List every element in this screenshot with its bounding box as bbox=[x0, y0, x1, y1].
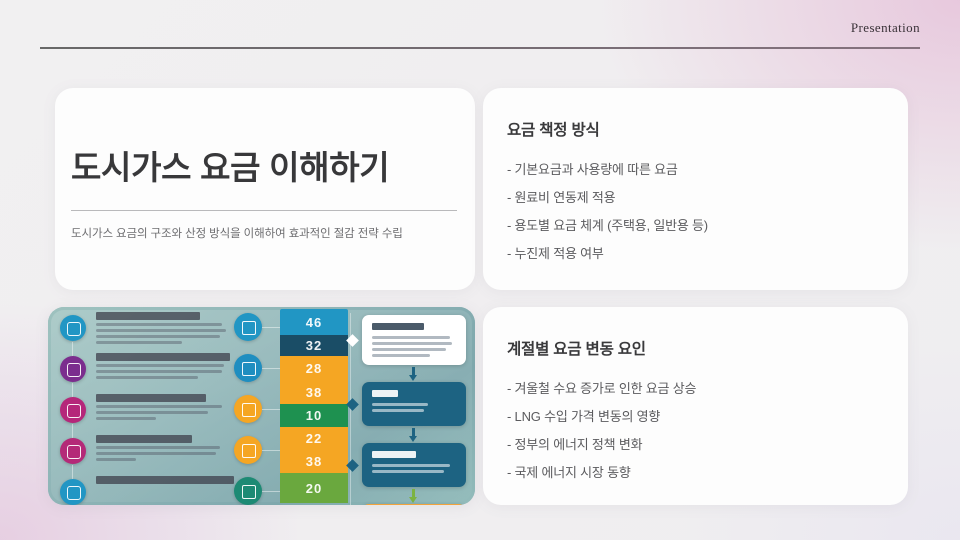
bank-icon bbox=[60, 356, 86, 382]
page-title: 도시가스 요금 이해하기 bbox=[71, 148, 389, 188]
bullet-text-line bbox=[96, 452, 216, 455]
seasonal-list-item: - 정부의 에너지 정책 변화 bbox=[507, 431, 890, 459]
presentation-slide: Presentation 도시가스 요금 이해하기 도시가스 요금의 구조와 산… bbox=[0, 0, 960, 540]
bullet-text-line bbox=[96, 364, 224, 367]
bullet-heading bbox=[96, 312, 200, 320]
bullet-text-line bbox=[96, 341, 182, 344]
title-divider bbox=[71, 210, 457, 211]
target-icon bbox=[60, 315, 86, 341]
pricing-card-title: 요금 책정 방식 bbox=[507, 118, 600, 140]
bar-segment: 38 bbox=[280, 450, 348, 473]
box-title bbox=[372, 451, 416, 458]
seasonal-list-item: - 국제 에너지 시장 동향 bbox=[507, 459, 890, 487]
box-text-line bbox=[372, 354, 430, 357]
chart-icon bbox=[60, 479, 86, 505]
bullet-text-line bbox=[96, 405, 222, 408]
seasonal-list-item: - LNG 수입 가격 변동의 영향 bbox=[507, 403, 890, 431]
pricing-card-list: - 기본요금과 사용량에 따른 요금- 원료비 연동제 적용- 용도별 요금 체… bbox=[507, 156, 890, 268]
bar-segment: 32 bbox=[280, 335, 348, 356]
document-icon bbox=[60, 397, 86, 423]
connector-line bbox=[72, 383, 73, 397]
bullet-text-line bbox=[96, 458, 136, 461]
infographic-image: 4632283810223820 bbox=[48, 307, 475, 505]
pricing-list-item: - 누진제 적용 여부 bbox=[507, 240, 890, 268]
leaf-icon bbox=[234, 477, 262, 505]
bar-segment: 28 bbox=[280, 356, 348, 380]
infographic-card: 4632283810223820 bbox=[48, 307, 475, 505]
bar-segment: 46 bbox=[280, 309, 348, 335]
bar-segment: 22 bbox=[280, 427, 348, 450]
metric-box bbox=[362, 382, 466, 426]
compare-box bbox=[362, 443, 466, 487]
summary-box bbox=[362, 315, 466, 365]
box-text-line bbox=[372, 470, 444, 473]
pricing-list-item: - 용도별 요금 체계 (주택용, 일반용 등) bbox=[507, 212, 890, 240]
bullet-text-line bbox=[96, 335, 220, 338]
seasonal-list-item: - 겨울철 수요 증가로 인한 요금 상승 bbox=[507, 375, 890, 403]
bullet-text-line bbox=[96, 323, 222, 326]
box-text-line bbox=[372, 409, 424, 412]
presentation-icon bbox=[234, 354, 262, 382]
bullet-text-line bbox=[96, 446, 220, 449]
calendar-icon bbox=[234, 395, 262, 423]
seasonal-card-title: 계절별 요금 변동 요인 bbox=[507, 337, 646, 359]
box-text-line bbox=[372, 464, 450, 467]
seasonal-card-list: - 겨울철 수요 증가로 인한 요금 상승- LNG 수입 가격 변동의 영향-… bbox=[507, 375, 890, 487]
connector-line bbox=[72, 342, 73, 356]
box-text-line bbox=[372, 348, 446, 351]
connector-line bbox=[72, 465, 73, 479]
bullet-heading bbox=[96, 394, 206, 402]
bar-segment: 20 bbox=[280, 473, 348, 503]
slide-header: Presentation bbox=[40, 18, 920, 50]
infographic-icon-column bbox=[230, 307, 278, 505]
page-subtitle: 도시가스 요금의 구조와 산정 방식을 이해하여 효과적인 절감 전략 수립 bbox=[71, 226, 403, 243]
box-text-line bbox=[372, 336, 450, 339]
bullet-text-line bbox=[96, 376, 198, 379]
box-text-line bbox=[372, 342, 452, 345]
box-text-line bbox=[372, 403, 428, 406]
user-icon bbox=[60, 438, 86, 464]
seasonal-factors-card: 계절별 요금 변동 요인 - 겨울철 수요 증가로 인한 요금 상승- LNG … bbox=[483, 307, 908, 505]
box-title bbox=[372, 323, 424, 330]
bar-segment: 10 bbox=[280, 404, 348, 427]
bar-segment: 38 bbox=[280, 380, 348, 404]
bullet-text-line bbox=[96, 411, 208, 414]
header-title: Presentation bbox=[851, 18, 920, 38]
gauge-icon bbox=[234, 436, 262, 464]
bullet-text-line bbox=[96, 417, 156, 420]
infographic-flowchart bbox=[360, 311, 472, 505]
bullet-heading bbox=[96, 476, 234, 484]
bullet-heading bbox=[96, 435, 192, 443]
bullet-text-line bbox=[96, 370, 222, 373]
bullet-heading bbox=[96, 353, 230, 361]
pricing-list-item: - 기본요금과 사용량에 따른 요금 bbox=[507, 156, 890, 184]
pricing-list-item: - 원료비 연동제 적용 bbox=[507, 184, 890, 212]
infographic-bullet-column bbox=[56, 307, 238, 505]
title-card: 도시가스 요금 이해하기 도시가스 요금의 구조와 산정 방식을 이해하여 효과… bbox=[55, 88, 475, 290]
header-divider bbox=[40, 47, 920, 49]
bullet-text-line bbox=[96, 329, 226, 332]
search-icon bbox=[234, 313, 262, 341]
pricing-method-card: 요금 책정 방식 - 기본요금과 사용량에 따른 요금- 원료비 연동제 적용-… bbox=[483, 88, 908, 290]
infographic-stacked-bar: 4632283810223820 bbox=[280, 309, 348, 505]
box-title bbox=[372, 390, 398, 397]
action-box bbox=[362, 504, 466, 505]
connector-line bbox=[72, 424, 73, 438]
